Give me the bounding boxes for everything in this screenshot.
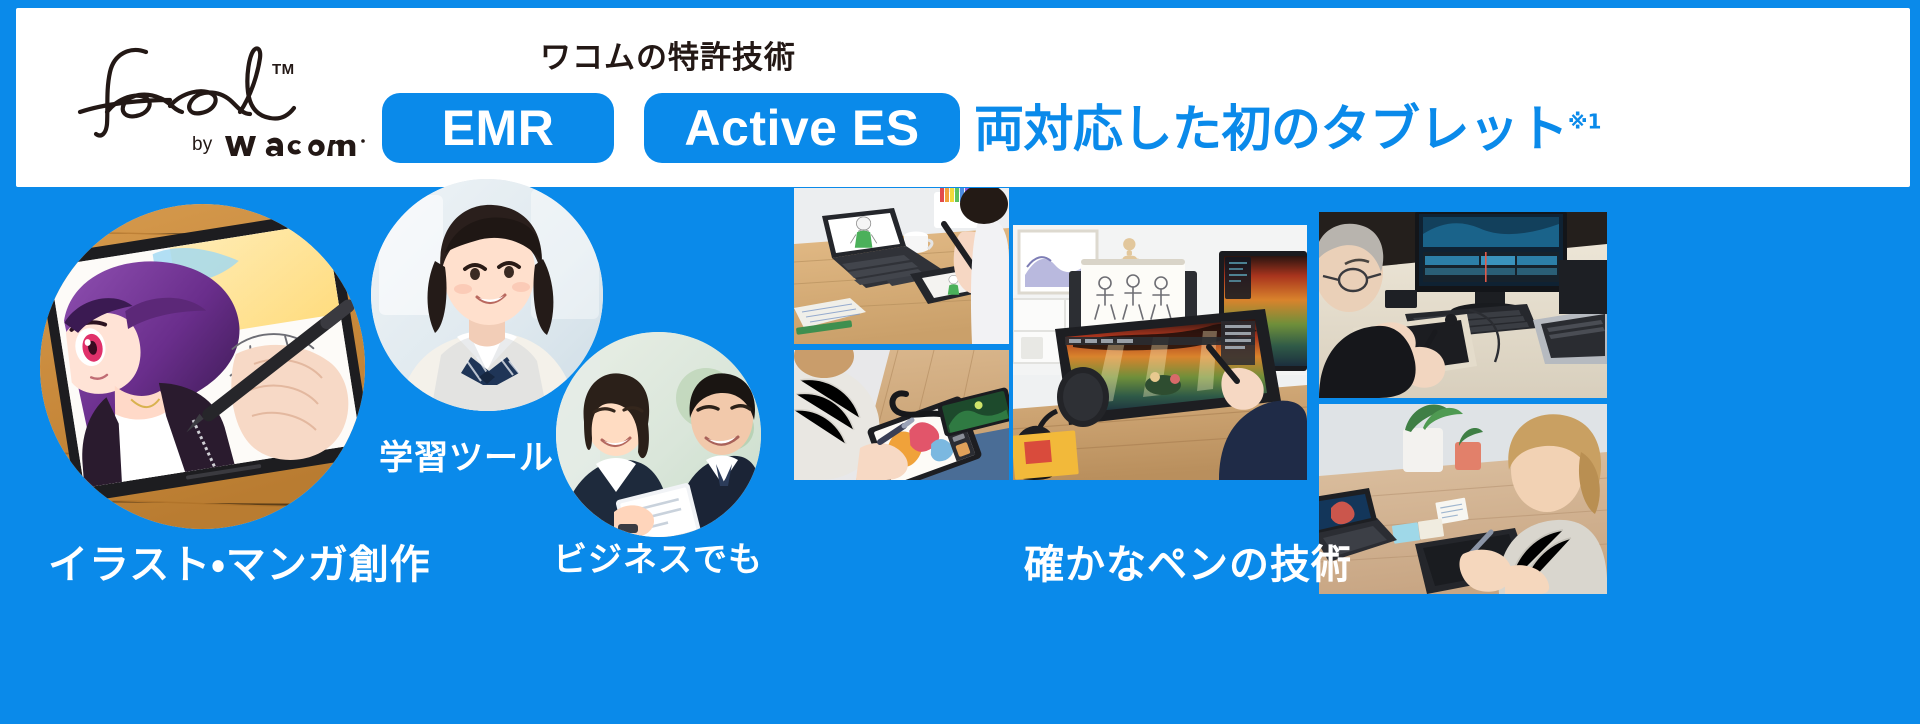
tagline-footnote-marker: ※1 <box>1568 109 1601 133</box>
pill-active-es[interactable]: Active ES <box>644 93 960 163</box>
caption-pen-technology: 確かなペンの技術 <box>1024 532 1352 590</box>
header-panel: TM by ワコムの特許技 <box>16 8 1910 187</box>
pill-emr[interactable]: EMR <box>382 93 614 163</box>
caption-business: ビジネスでも <box>553 532 763 581</box>
caption-illustration-manga: イラスト・マンガ創作 <box>48 532 431 590</box>
business-photo <box>556 332 761 537</box>
promo-banner: TM by ワコムの特許技 <box>0 0 1920 724</box>
logo-trademark: TM <box>272 61 295 78</box>
tagline: 両対応した初のタブレット※1 <box>974 94 1601 164</box>
photo-laptop-pen-tablet <box>794 188 1009 344</box>
caption-study-tool: 学習ツール <box>379 430 554 479</box>
feel-script-logo-icon <box>74 42 304 138</box>
circle-photo-illustration-manga <box>40 204 365 529</box>
illustration-manga-photo <box>40 204 365 529</box>
kicker-text: ワコムの特許技術 <box>540 32 796 77</box>
mobile-drawing-photo <box>794 350 1009 480</box>
photo-office-desk <box>1319 404 1607 594</box>
technology-pill-row: EMR Active ES <box>382 93 960 163</box>
creator-studio-photo <box>1013 225 1307 480</box>
feel-by-wacom-logo: TM by <box>74 42 364 160</box>
gallery-area: イラスト・マンガ創作 学習ツール ビジネスでも 確かなペンの技術 <box>0 187 1920 724</box>
wacom-wordmark-icon <box>223 130 383 160</box>
logo-by-word: by <box>192 134 212 156</box>
circle-photo-business <box>556 332 761 537</box>
photo-mobile-drawing <box>794 350 1009 480</box>
tagline-text: 両対応した初のタブレット <box>974 100 1568 158</box>
photo-creator-studio <box>1013 225 1307 480</box>
laptop-pen-tablet-photo <box>794 188 1009 344</box>
office-desk-photo <box>1319 404 1607 594</box>
video-editor-photo <box>1319 212 1607 398</box>
photo-video-editor <box>1319 212 1607 398</box>
